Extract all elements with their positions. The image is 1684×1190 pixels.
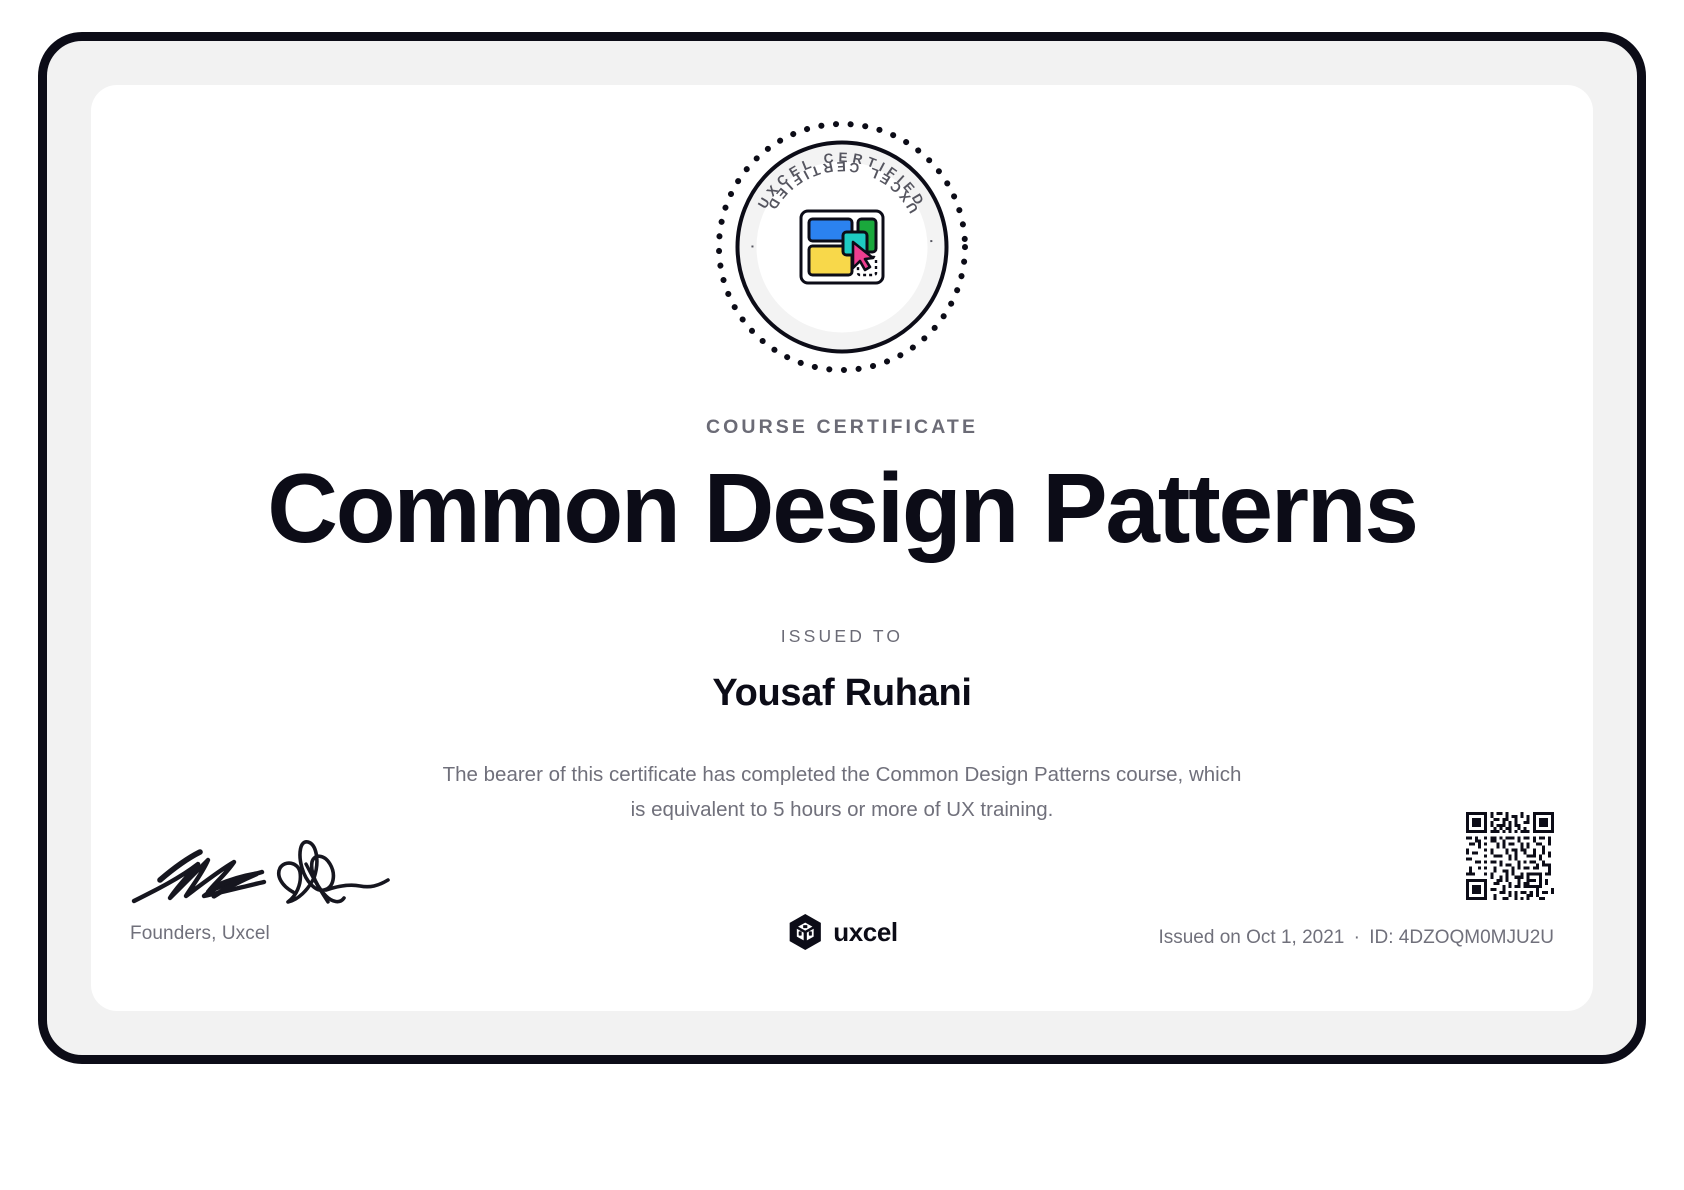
description-text: The bearer of this certificate has compl… xyxy=(442,757,1242,828)
issued-on-date: Issued on Oct 1, 2021 xyxy=(1158,927,1344,948)
separator-dot: · xyxy=(1350,927,1364,948)
issue-info: Issued on Oct 1, 2021 · ID: 4DZOQM0MJU2U xyxy=(1158,927,1554,949)
uxcel-certified-seal: UXCEL CERTIFIED UXCEL CERTIFIED · · xyxy=(713,118,971,376)
issued-to-label: ISSUED TO xyxy=(91,626,1593,647)
svg-text:·: · xyxy=(924,239,939,249)
layout-patterns-icon xyxy=(801,211,883,283)
eyebrow-label: COURSE CERTIFICATE xyxy=(91,416,1593,439)
uxcel-brand-logo: uxcel xyxy=(786,913,898,951)
certificate: UXCEL CERTIFIED UXCEL CERTIFIED · · xyxy=(38,32,1646,1064)
founders-signature-icon xyxy=(130,834,420,914)
uxcel-hexagon-cube-icon xyxy=(786,913,824,951)
svg-text:·: · xyxy=(745,239,760,249)
certificate-card: UXCEL CERTIFIED UXCEL CERTIFIED · · xyxy=(91,85,1593,1011)
brand-name: uxcel xyxy=(833,917,898,948)
founders-label: Founders, Uxcel xyxy=(130,923,460,945)
qr-code[interactable] xyxy=(1466,812,1554,900)
recipient-name: Yousaf Ruhani xyxy=(91,672,1593,715)
signature-block: Founders, Uxcel xyxy=(130,834,460,945)
certificate-id: ID: 4DZOQM0MJU2U xyxy=(1369,927,1554,948)
page-title: Common Design Patterns xyxy=(91,455,1593,563)
